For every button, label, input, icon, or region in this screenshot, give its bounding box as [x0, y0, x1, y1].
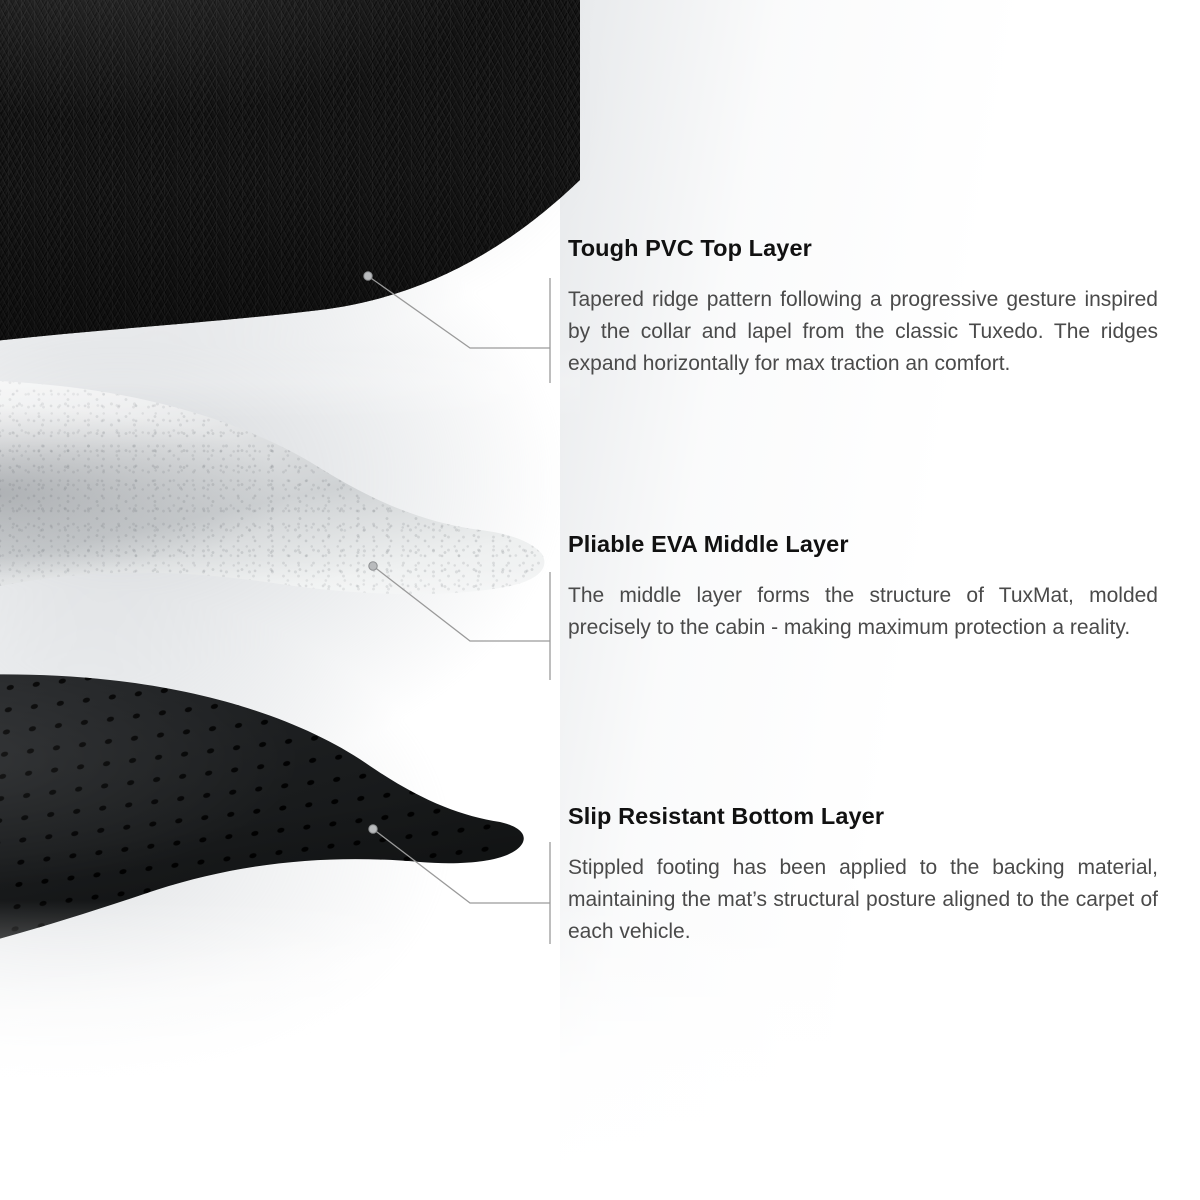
pvc-top-layer-icon	[0, 0, 580, 420]
pvc-edge-highlight	[0, 0, 580, 420]
callout-pvc: Tough PVC Top Layer Tapered ridge patter…	[568, 234, 1158, 380]
eva-shading	[0, 372, 550, 662]
callout-body-pvc: Tapered ridge pattern following a progre…	[568, 284, 1158, 380]
callout-eva: Pliable EVA Middle Layer The middle laye…	[568, 530, 1158, 644]
callout-grip: Slip Resistant Bottom Layer Stippled foo…	[568, 802, 1158, 948]
eva-middle-layer-icon	[0, 372, 550, 662]
callout-title-pvc: Tough PVC Top Layer	[568, 234, 1158, 262]
callout-body-eva: The middle layer forms the structure of …	[568, 580, 1158, 644]
infographic-canvas: Tough PVC Top Layer Tapered ridge patter…	[0, 0, 1200, 1200]
eva-slab	[0, 372, 550, 662]
callout-title-grip: Slip Resistant Bottom Layer	[568, 802, 1158, 830]
callout-body-grip: Stippled footing has been applied to the…	[568, 852, 1158, 948]
callout-title-eva: Pliable EVA Middle Layer	[568, 530, 1158, 558]
